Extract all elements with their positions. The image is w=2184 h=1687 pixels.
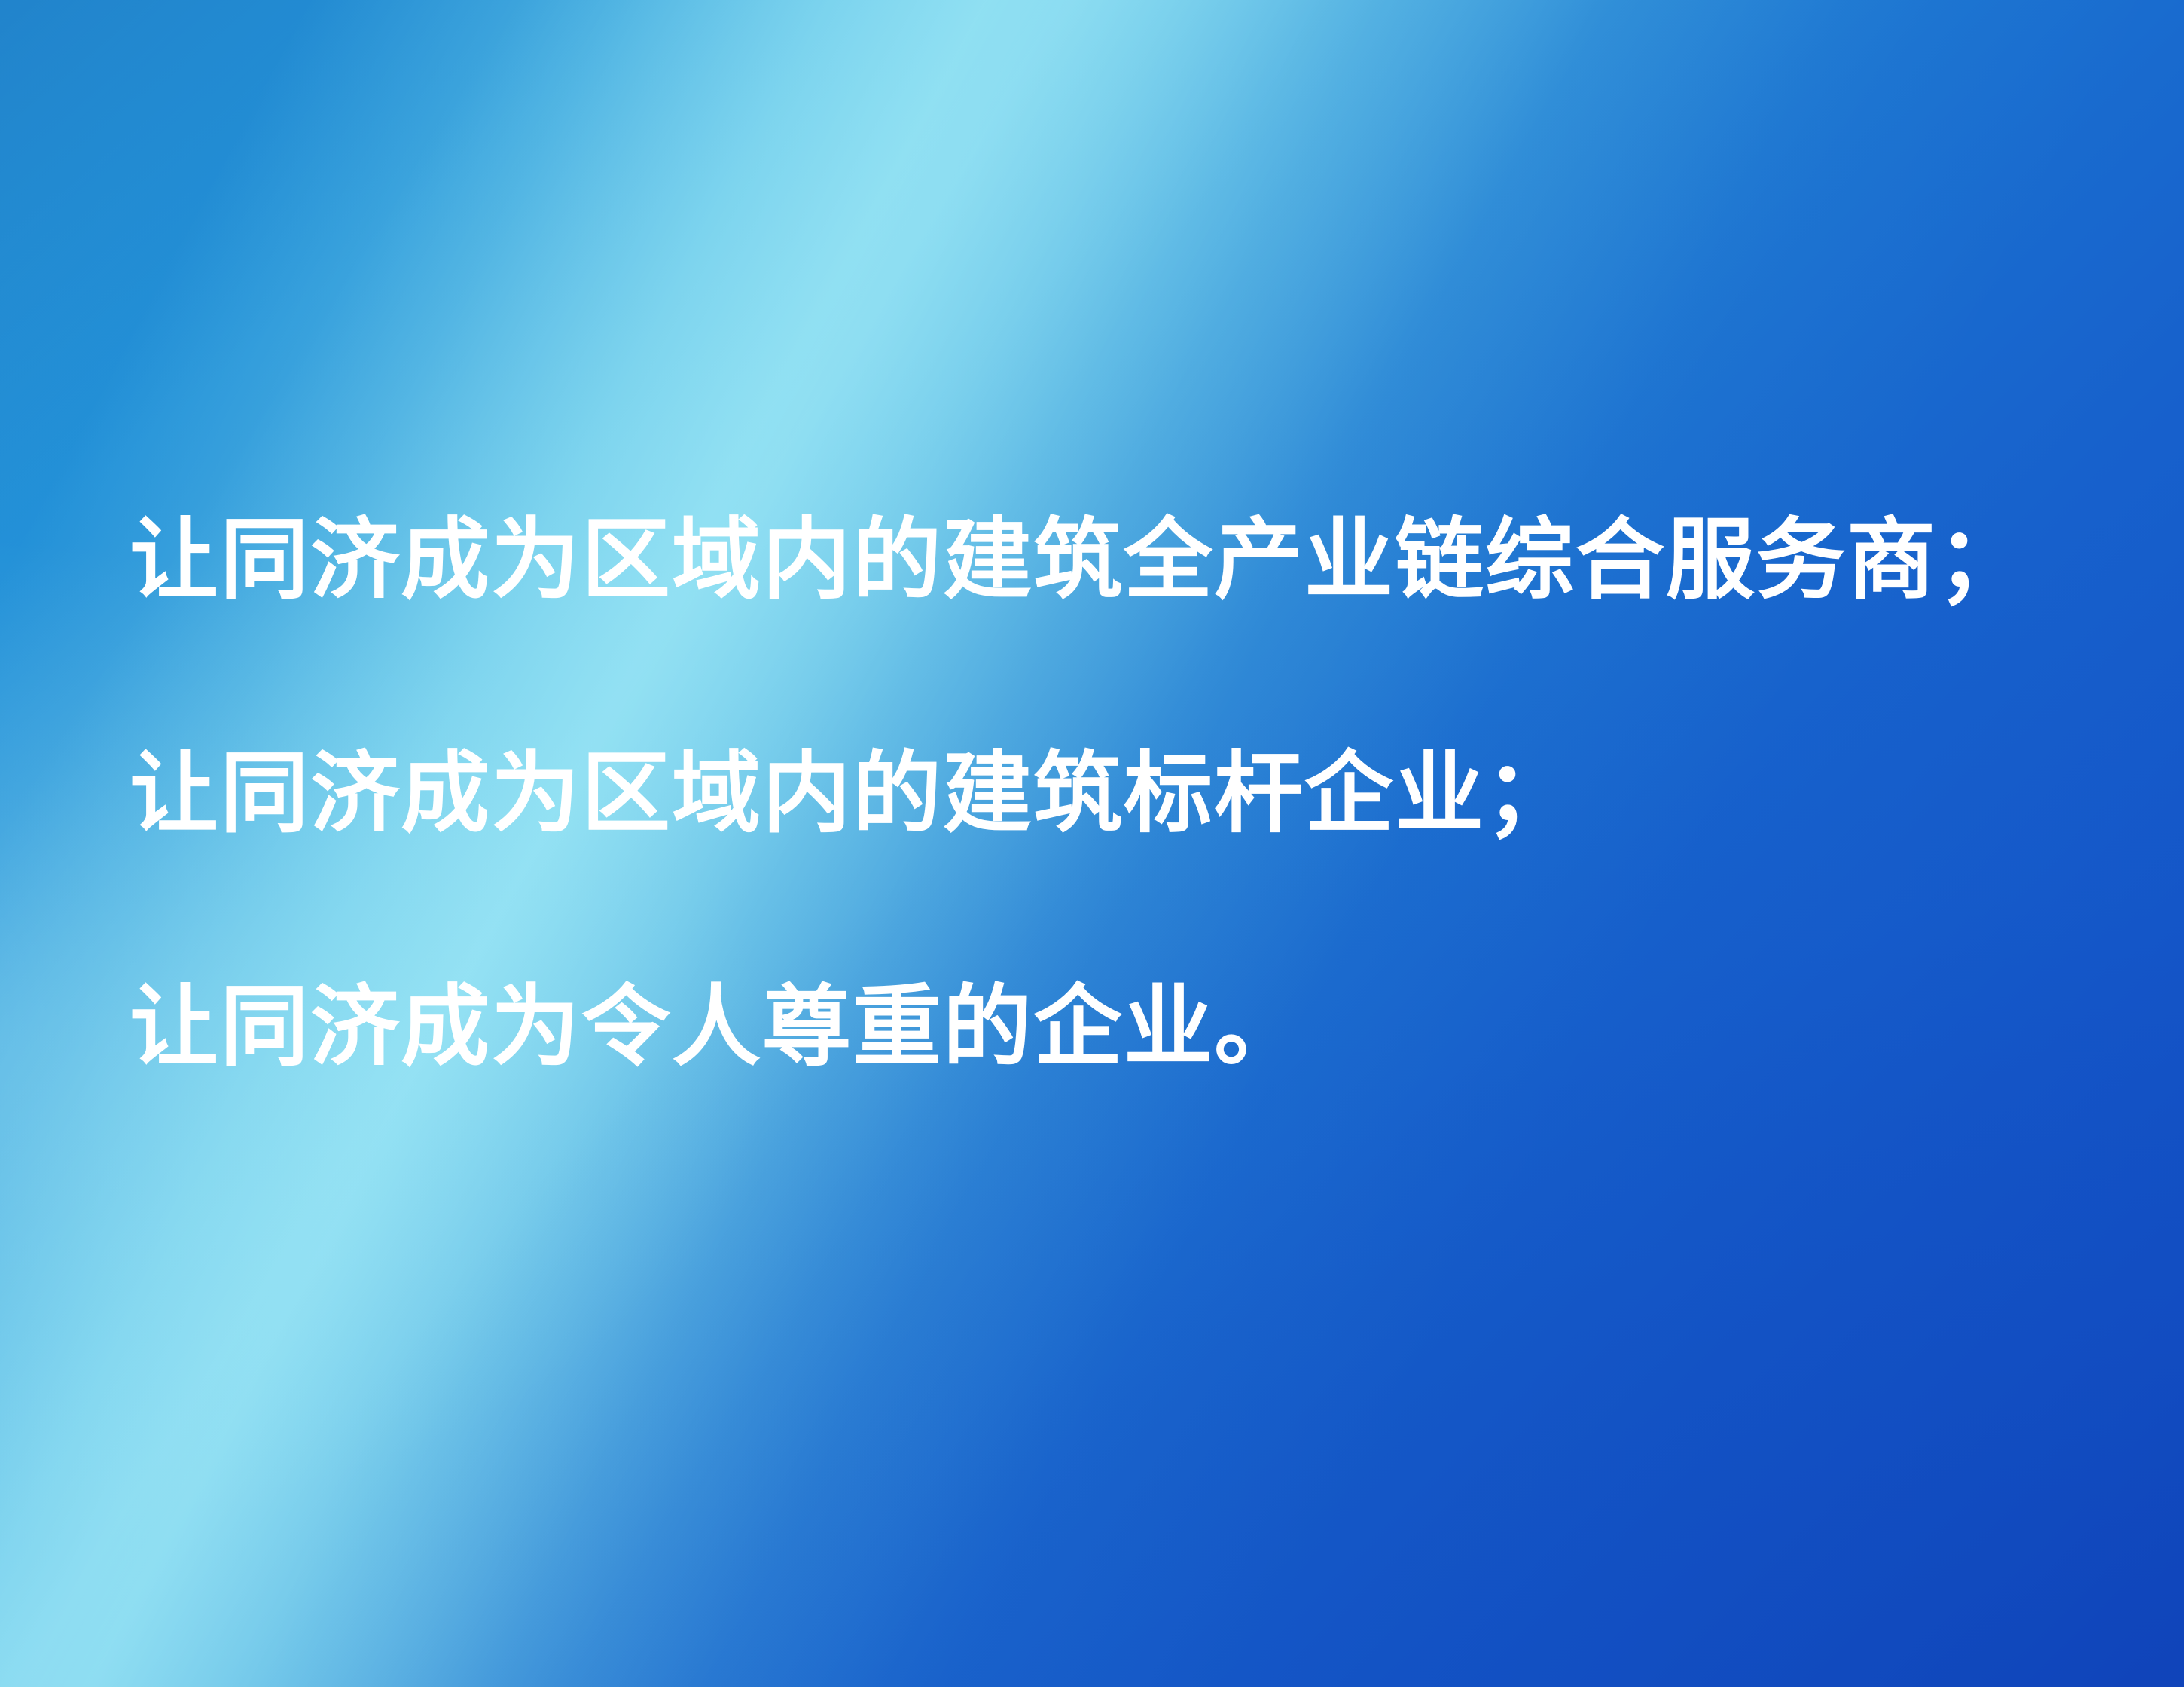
slide-line-2: 让同济成为区域内的建筑标杆企业；	[130, 676, 2103, 910]
slide-line-1: 让同济成为区域内的建筑全产业链综合服务商；	[130, 443, 2103, 676]
slide-line-3: 让同济成为令人尊重的企业。	[130, 910, 2103, 1143]
slide-text-block: 让同济成为区域内的建筑全产业链综合服务商； 让同济成为区域内的建筑标杆企业； 让…	[130, 443, 2103, 1143]
presentation-slide: 让同济成为区域内的建筑全产业链综合服务商； 让同济成为区域内的建筑标杆企业； 让…	[0, 0, 2184, 1687]
